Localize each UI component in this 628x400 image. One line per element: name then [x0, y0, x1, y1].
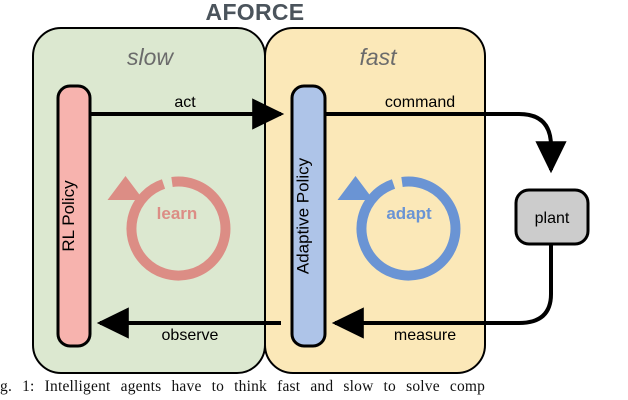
- node-plant[interactable]: plant: [516, 190, 588, 244]
- aforce-architecture-diagram: AFORCE slow fast learn adapt act: [0, 0, 628, 400]
- node-rl-policy[interactable]: RL Policy: [58, 86, 90, 346]
- edge-measure-label: measure: [394, 327, 456, 344]
- loop-learn-label: learn: [157, 204, 198, 223]
- panel-slow-label: slow: [127, 44, 174, 70]
- figure-container: AFORCE slow fast learn adapt act: [0, 0, 628, 400]
- node-plant-label: plant: [535, 210, 570, 227]
- edge-observe-label: observe: [162, 327, 219, 344]
- panel-fast-label: fast: [359, 44, 398, 70]
- edge-act-label: act: [174, 94, 196, 111]
- node-rl-policy-label: RL Policy: [59, 180, 78, 252]
- node-adaptive-policy-label: Adaptive Policy: [294, 157, 313, 274]
- node-adaptive-policy[interactable]: Adaptive Policy: [292, 86, 325, 346]
- loop-adapt-label: adapt: [386, 204, 432, 223]
- figure-title: AFORCE: [206, 0, 305, 25]
- edge-command-label: command: [385, 94, 455, 111]
- figure-caption-text: g. 1: Intelligent agents have to think f…: [0, 378, 485, 395]
- figure-caption: g. 1: Intelligent agents have to think f…: [0, 378, 628, 396]
